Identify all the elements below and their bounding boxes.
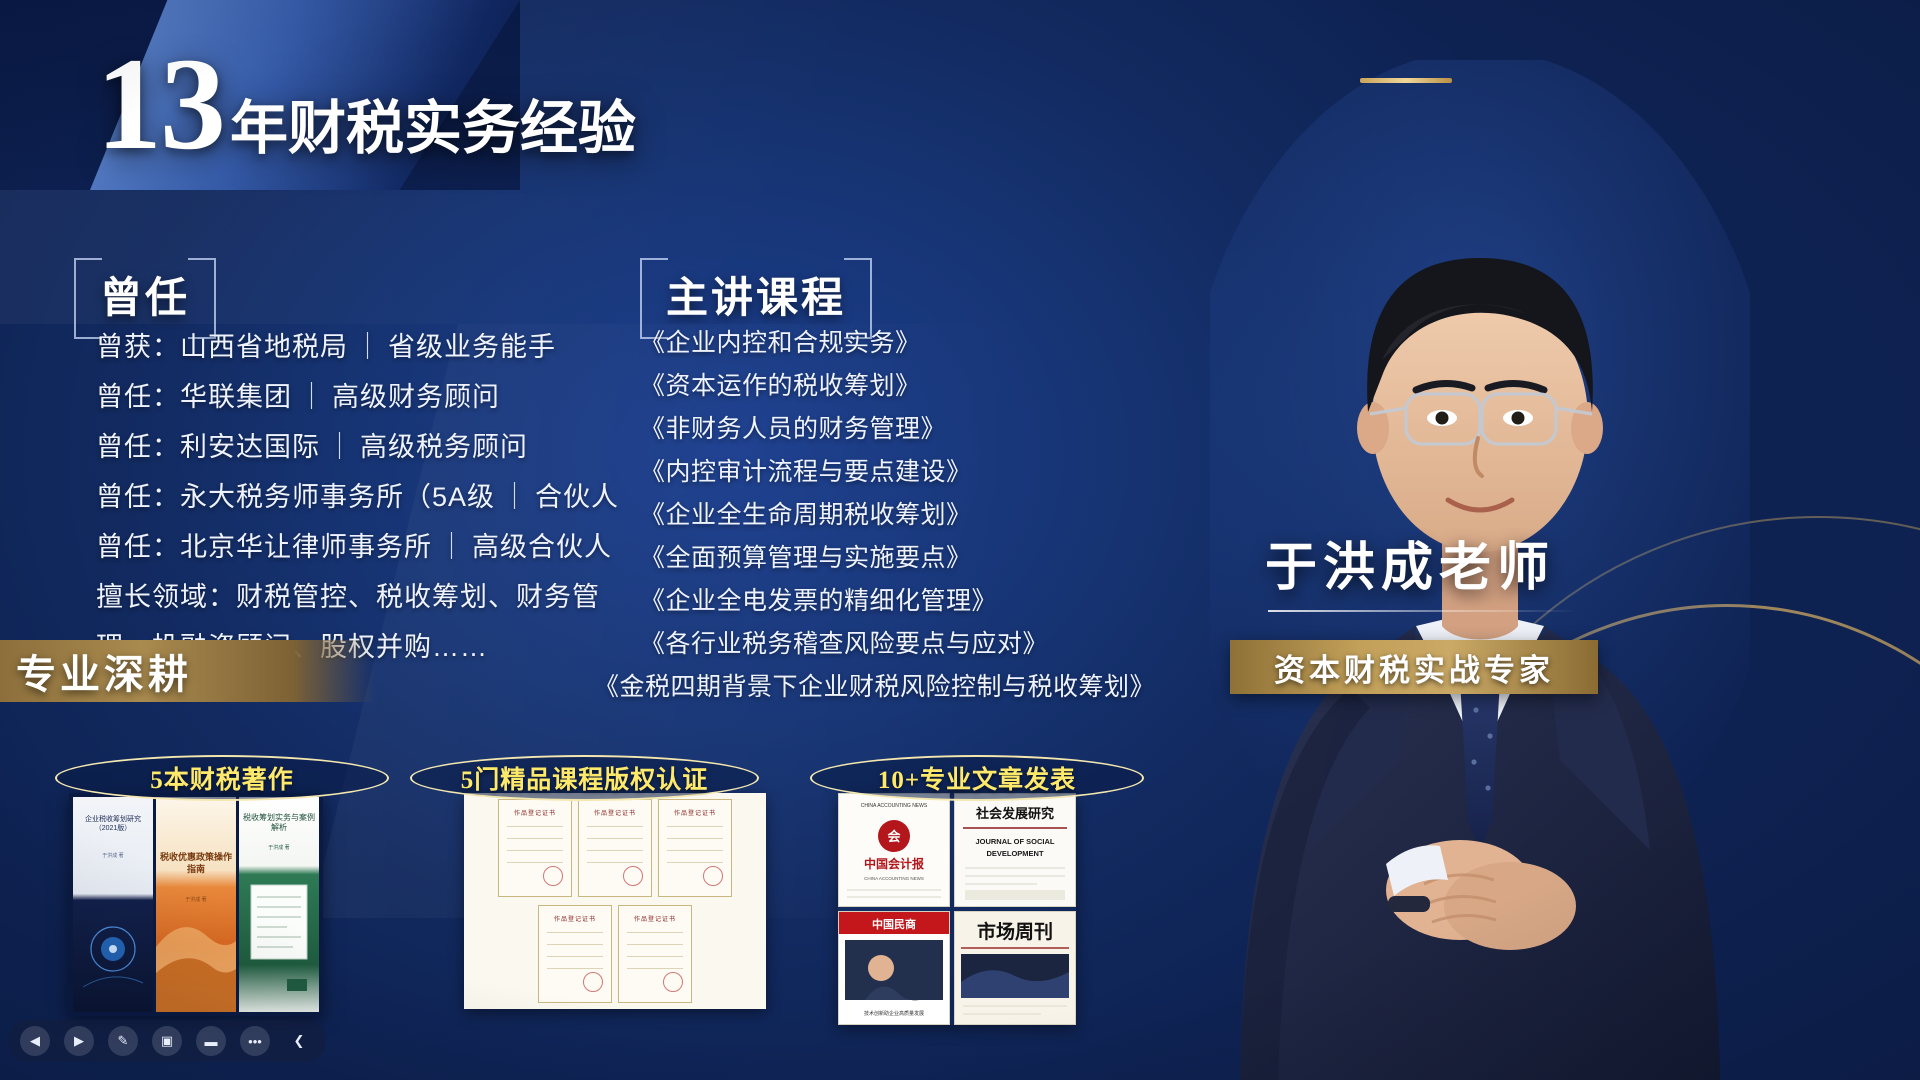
video-icon[interactable]: ▬	[196, 1026, 226, 1056]
title-suffix: 年财税实务经验	[230, 81, 636, 165]
certificate: 作品登记证书	[658, 799, 732, 897]
experience-org: 北京华让律师事务所	[180, 532, 432, 562]
certificate: 作品登记证书	[578, 799, 652, 897]
certificate: 作品登记证书	[538, 905, 612, 1003]
experience-separator: ｜	[320, 432, 360, 462]
course-item: 《企业全生命周期税收筹划》	[640, 494, 1210, 537]
evidence-badge-label: 5门精品课程版权认证	[461, 760, 709, 796]
svg-text:中国民商: 中国民商	[872, 917, 916, 931]
evidence-publications: 10+专业文章发表 CHINA ACCOUNTING NEWS 会 中国会计报 …	[810, 755, 1110, 1055]
certificate: 作品登记证书	[618, 905, 692, 1003]
courses-heading-label: 主讲课程	[666, 276, 846, 322]
specialty-line-1: 擅长领域：财税管控、税收筹划、财务管	[96, 572, 619, 622]
experience-org: 山西省地税局	[180, 332, 348, 362]
collapse-icon-glyph: ❮	[294, 1033, 305, 1049]
page-title: 13 年财税实务经验	[96, 48, 636, 165]
book-cover: 税收筹划实务与案例解析 于洪成 著	[239, 797, 319, 1012]
speaker-tagline-badge: 资本财税实战专家	[1230, 640, 1598, 694]
svg-text:社会发展研究: 社会发展研究	[975, 806, 1054, 821]
video-icon-glyph: ▬	[205, 1034, 218, 1049]
certificates-board: 作品登记证书 作品登记证书 作品登记证书	[464, 793, 766, 1009]
specialty-ribbon-label: 专业深耕	[0, 642, 192, 700]
certificate: 作品登记证书	[498, 799, 572, 897]
experience-prefix: 曾任：	[96, 532, 180, 562]
experience-prefix: 曾任：	[96, 482, 180, 512]
evidence-badge-publications: 10+专业文章发表	[810, 755, 1144, 801]
newspaper: CHINA ACCOUNTING NEWS 会 中国会计报 CHINA ACCO…	[838, 793, 950, 907]
experience-org: 永大税务师事务所（5A级	[180, 482, 495, 512]
play-icon[interactable]: ▶	[64, 1026, 94, 1056]
gold-tick-decoration	[1360, 78, 1452, 83]
certificate-seal	[663, 972, 683, 992]
course-item: 《企业内控和合规实务》	[640, 322, 1210, 365]
journal: 社会发展研究 JOURNAL OF SOCIAL DEVELOPMENT 社会发…	[954, 793, 1076, 907]
svg-text:CHINA ACCOUNTING NEWS: CHINA ACCOUNTING NEWS	[864, 876, 924, 881]
certificates-row-bottom: 作品登记证书 作品登记证书	[470, 905, 760, 1003]
experience-role: 省级业务能手	[388, 332, 556, 362]
svg-text:市场周刊: 市场周刊	[977, 920, 1053, 943]
experience-item: 曾获：山西省地税局｜省级业务能手	[96, 322, 619, 372]
speaker-name-rule	[1268, 610, 1578, 612]
more-icon[interactable]: •••	[240, 1026, 270, 1056]
experience-separator: ｜	[495, 482, 535, 512]
experience-prefix: 曾任：	[96, 382, 180, 412]
course-item: 《内控审计流程与要点建设》	[640, 451, 1210, 494]
publications-strip: CHINA ACCOUNTING NEWS 会 中国会计报 CHINA ACCO…	[838, 793, 1076, 1025]
course-item: 《企业全电发票的精细化管理》	[640, 580, 1210, 623]
experience-item: 曾任：华联集团｜高级财务顾问	[96, 372, 619, 422]
specialty-ribbon: 专业深耕	[0, 640, 375, 702]
previous-icon[interactable]: ◀	[20, 1026, 50, 1056]
experience-role: 高级财务顾问	[332, 382, 500, 412]
experience-heading-label: 曾任	[100, 276, 190, 322]
course-item: 《全面预算管理与实施要点》	[640, 537, 1210, 580]
certificates-row-top: 作品登记证书 作品登记证书 作品登记证书	[470, 799, 760, 897]
title-number: 13	[96, 48, 224, 160]
experience-separator: ｜	[292, 382, 332, 412]
camera-icon[interactable]: ▣	[152, 1026, 182, 1056]
evidence-books: 5本财税著作 企业税收筹划研究（2021版） 于洪成 著 税收优惠政策操作指南	[55, 755, 385, 1055]
courses-list: 《企业内控和合规实务》 《资本运作的税收筹划》 《非财务人员的财务管理》 《内控…	[640, 322, 1210, 709]
course-item: 《资本运作的税收筹划》	[640, 365, 1210, 408]
evidence-badge-label: 5本财税著作	[150, 760, 294, 796]
experience-item: 曾任：利安达国际｜高级税务顾问	[96, 422, 619, 472]
newspaper: 中国民商 技术创新助企业高质量发展 中国民商	[838, 911, 950, 1025]
certificate-title: 作品登记证书	[579, 808, 651, 817]
play-icon-glyph: ▶	[74, 1033, 84, 1049]
camera-icon-glyph: ▣	[161, 1033, 173, 1049]
experience-role: 高级税务顾问	[360, 432, 528, 462]
certificate-title: 作品登记证书	[499, 808, 571, 817]
experience-role: 合伙人	[535, 482, 619, 512]
course-item: 《非财务人员的财务管理》	[640, 408, 1210, 451]
svg-text:中国会计报: 中国会计报	[864, 856, 924, 871]
pen-icon-glyph: ✎	[118, 1033, 129, 1049]
course-item: 《金税四期背景下企业财税风险控制与税收筹划》	[594, 666, 1210, 709]
svg-text:于洪成 著: 于洪成 著	[102, 852, 123, 859]
evidence-badge-certificates: 5门精品课程版权认证	[410, 755, 759, 801]
svg-text:于洪成 著: 于洪成 著	[185, 896, 206, 903]
certificate-seal	[703, 866, 723, 886]
svg-text:CHINA ACCOUNTING NEWS: CHINA ACCOUNTING NEWS	[861, 803, 928, 809]
experience-org: 利安达国际	[180, 432, 320, 462]
certificate-seal	[623, 866, 643, 886]
slide-canvas: 13 年财税实务经验 曾任 曾获：山西省地税局｜省级业务能手 曾任：华联集团｜高…	[0, 0, 1920, 1080]
course-item: 《各行业税务稽查风险要点与应对》	[640, 623, 1210, 666]
experience-item: 曾任：永大税务师事务所（5A级｜合伙人	[96, 472, 619, 522]
evidence-certificates: 5门精品课程版权认证 作品登记证书 作品登记证书 作品登记证书	[410, 755, 715, 1055]
certificate-title: 作品登记证书	[539, 914, 611, 923]
previous-icon-glyph: ◀	[30, 1033, 40, 1049]
svg-text:技术创新助企业高质量发展: 技术创新助企业高质量发展	[864, 1010, 924, 1017]
svg-text:JOURNAL OF SOCIAL: JOURNAL OF SOCIAL	[975, 837, 1054, 846]
certificate-seal	[543, 866, 563, 886]
experience-prefix: 曾任：	[96, 432, 180, 462]
certificate-title: 作品登记证书	[619, 914, 691, 923]
pen-icon[interactable]: ✎	[108, 1026, 138, 1056]
book-cover: 企业税收筹划研究（2021版） 于洪成 著	[73, 797, 153, 1012]
book-cover: 税收优惠政策操作指南 于洪成 著	[156, 797, 236, 1012]
certificate-seal	[583, 972, 603, 992]
books-strip: 企业税收筹划研究（2021版） 于洪成 著 税收优惠政策操作指南 于洪成 著	[69, 793, 323, 1016]
collapse-icon[interactable]: ❮	[284, 1026, 314, 1056]
experience-role: 高级合伙人	[472, 532, 612, 562]
experience-separator: ｜	[348, 332, 388, 362]
publications-col-left: CHINA ACCOUNTING NEWS 会 中国会计报 CHINA ACCO…	[838, 793, 950, 1025]
media-control-bar[interactable]: ◀ ▶ ✎ ▣ ▬ ••• ❮	[8, 1020, 326, 1062]
experience-list: 曾获：山西省地税局｜省级业务能手 曾任：华联集团｜高级财务顾问 曾任：利安达国际…	[96, 322, 619, 672]
svg-text:DEVELOPMENT: DEVELOPMENT	[986, 849, 1044, 858]
experience-separator: ｜	[432, 532, 472, 562]
evidence-badge-label: 10+专业文章发表	[878, 760, 1076, 796]
more-icon-glyph: •••	[248, 1034, 262, 1049]
evidence-badge-books: 5本财税著作	[55, 755, 389, 801]
svg-text:于洪成 著: 于洪成 著	[268, 844, 289, 851]
experience-org: 华联集团	[180, 382, 292, 412]
experience-prefix: 曾获：	[96, 332, 180, 362]
speaker-name: 于洪成老师	[1265, 525, 1555, 600]
experience-item: 曾任：北京华让律师事务所｜高级合伙人	[96, 522, 619, 572]
publications-col-right: 社会发展研究 JOURNAL OF SOCIAL DEVELOPMENT 社会发…	[954, 793, 1076, 1025]
magazine: 市场周刊 市场周刊	[954, 911, 1076, 1025]
certificate-title: 作品登记证书	[659, 808, 731, 817]
speaker-tagline-label: 资本财税实战专家	[1274, 645, 1554, 690]
svg-text:会: 会	[887, 829, 901, 844]
